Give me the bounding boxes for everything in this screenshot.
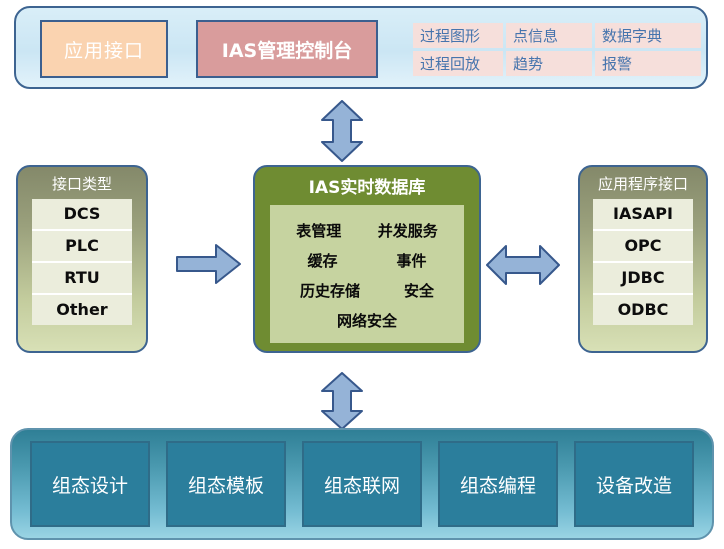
top-application-layer-panel: 应用接口 IAS管理控制台 过程图形 点信息 数据字典 过程回放 趋势 报警 bbox=[14, 6, 708, 89]
module-table-management[interactable]: 表管理 bbox=[296, 220, 341, 241]
ias-realtime-database-title: IAS实时数据库 bbox=[255, 173, 479, 203]
list-item-plc[interactable]: PLC bbox=[32, 231, 132, 263]
database-modules-panel: 表管理 并发服务 缓存 事件 历史存储 安全 网络安全 bbox=[270, 205, 464, 343]
list-item-rtu[interactable]: RTU bbox=[32, 263, 132, 295]
list-item-opc[interactable]: OPC bbox=[593, 231, 693, 263]
feature-cell-alarm[interactable]: 报警 bbox=[595, 51, 701, 76]
feature-cell-process-graphics[interactable]: 过程图形 bbox=[413, 23, 503, 48]
configuration-tools-panel: 组态设计 组态模板 组态联网 组态编程 设备改造 bbox=[10, 428, 714, 540]
list-item-jdbc[interactable]: JDBC bbox=[593, 263, 693, 295]
api-panel-title: 应用程序接口 bbox=[580, 172, 706, 196]
bottom-box-device-modification[interactable]: 设备改造 bbox=[574, 441, 694, 527]
feature-cell-data-dictionary[interactable]: 数据字典 bbox=[595, 23, 701, 48]
list-item-odbc[interactable]: ODBC bbox=[593, 295, 693, 325]
interface-types-list: DCS PLC RTU Other bbox=[32, 199, 132, 325]
right-arrow-icon-left bbox=[176, 243, 242, 285]
app-interface-box[interactable]: 应用接口 bbox=[40, 20, 168, 78]
double-horizontal-arrow-icon-right bbox=[486, 243, 560, 287]
interface-types-panel: 接口类型 DCS PLC RTU Other bbox=[16, 165, 148, 353]
feature-cell-trend[interactable]: 趋势 bbox=[506, 51, 592, 76]
feature-module-grid: 过程图形 点信息 数据字典 过程回放 趋势 报警 bbox=[413, 23, 695, 76]
module-network-security[interactable]: 网络安全 bbox=[337, 310, 397, 331]
ias-realtime-database-box: IAS实时数据库 表管理 并发服务 缓存 事件 历史存储 安全 网络安全 bbox=[253, 165, 481, 353]
database-module-row: 网络安全 bbox=[270, 305, 464, 335]
list-item-dcs[interactable]: DCS bbox=[32, 199, 132, 231]
feature-cell-point-info[interactable]: 点信息 bbox=[506, 23, 592, 48]
module-cache[interactable]: 缓存 bbox=[307, 250, 337, 271]
list-item-iasapi[interactable]: IASAPI bbox=[593, 199, 693, 231]
bottom-box-configuration-networking[interactable]: 组态联网 bbox=[302, 441, 422, 527]
database-module-row: 缓存 事件 bbox=[270, 245, 464, 275]
module-security[interactable]: 安全 bbox=[404, 280, 434, 301]
double-vertical-arrow-icon-top bbox=[320, 100, 364, 162]
api-list: IASAPI OPC JDBC ODBC bbox=[593, 199, 693, 325]
list-item-other[interactable]: Other bbox=[32, 295, 132, 325]
bottom-box-configuration-design[interactable]: 组态设计 bbox=[30, 441, 150, 527]
interface-types-title: 接口类型 bbox=[18, 172, 146, 196]
ias-management-console-box[interactable]: IAS管理控制台 bbox=[196, 20, 378, 78]
feature-cell-process-playback[interactable]: 过程回放 bbox=[413, 51, 503, 76]
module-event[interactable]: 事件 bbox=[396, 250, 426, 271]
application-programming-interface-panel: 应用程序接口 IASAPI OPC JDBC ODBC bbox=[578, 165, 708, 353]
module-history-storage[interactable]: 历史存储 bbox=[300, 280, 360, 301]
bottom-box-configuration-programming[interactable]: 组态编程 bbox=[438, 441, 558, 527]
module-concurrent-service[interactable]: 并发服务 bbox=[378, 220, 438, 241]
database-module-row: 历史存储 安全 bbox=[270, 275, 464, 305]
bottom-box-configuration-template[interactable]: 组态模板 bbox=[166, 441, 286, 527]
double-vertical-arrow-icon-bottom bbox=[320, 372, 364, 430]
database-module-row: 表管理 并发服务 bbox=[270, 215, 464, 245]
